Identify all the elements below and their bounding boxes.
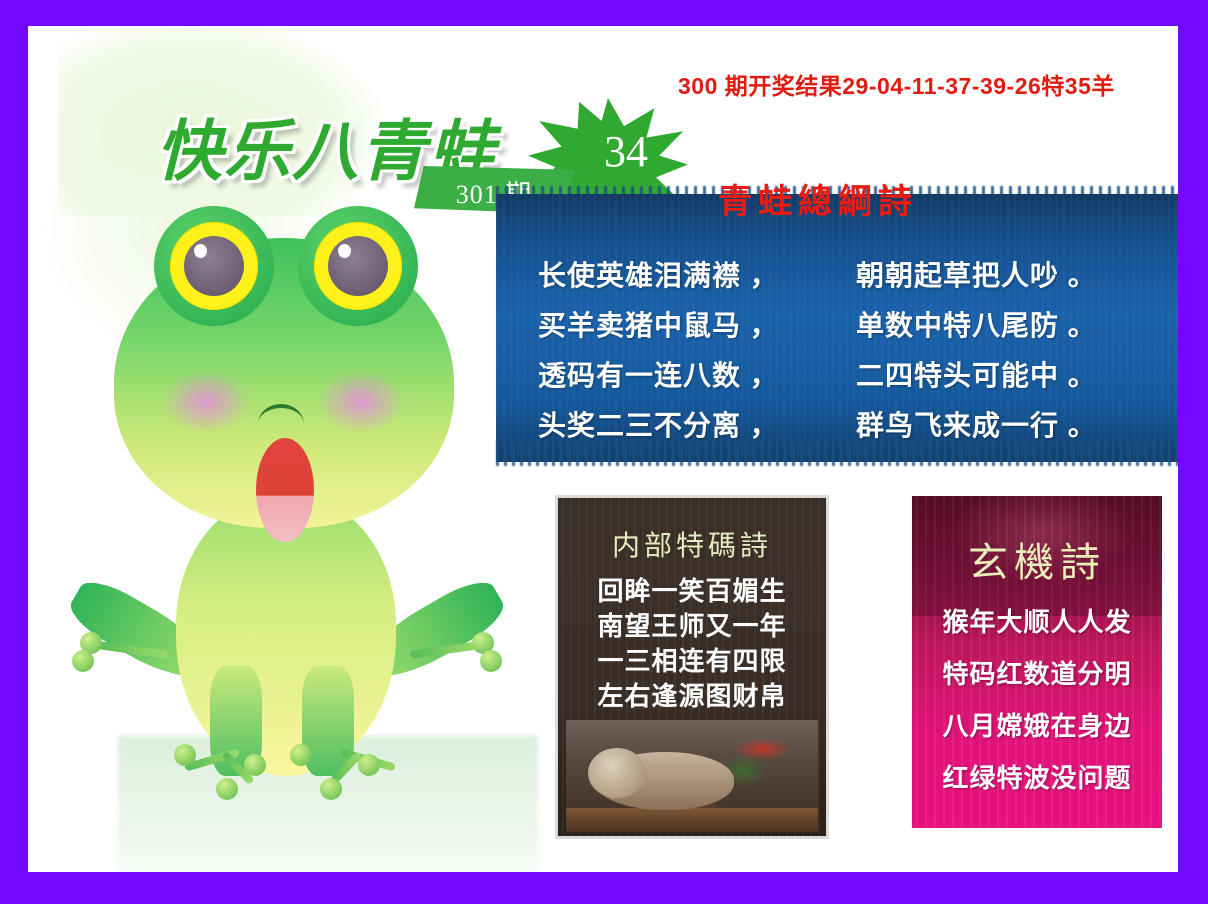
mystery-poem-line: 特码红数道分明: [912, 648, 1162, 700]
main-poem-heading: 青蛙總綱詩: [718, 174, 918, 223]
frog-eye-glint-right: [338, 244, 351, 258]
mystery-poem-line: 猴年大顺人人发: [912, 596, 1162, 648]
frog-eye-glint-left: [194, 244, 207, 258]
poem-row: 长使英雄泪满襟 ， 朝朝起草把人吵 。: [538, 254, 1178, 294]
poem-cell-left: 透码有一连八数 ，: [538, 354, 856, 394]
frog-toe-10: [320, 778, 342, 800]
poster-root: 300 期开奖结果29-04-11-37-39-26特35羊 34 快乐八青蛙 …: [0, 0, 1208, 904]
poem-cell-right: 朝朝起草把人吵 。: [856, 254, 1174, 294]
cat-photo-shelf: [566, 808, 818, 832]
inner-poem-heading: 内部特碼詩: [558, 524, 826, 564]
frog-toe-4: [480, 650, 502, 672]
frog-toe-7: [216, 778, 238, 800]
mystery-poem-heading: 玄機詩: [912, 530, 1162, 588]
frog-toe-8: [290, 744, 312, 766]
frog-mouth: [256, 438, 314, 542]
poem-cell-left: 买羊卖猪中鼠马 ，: [538, 304, 856, 344]
poem-row: 透码有一连八数 ， 二四特头可能中 。: [538, 354, 1178, 394]
inner-poem-lines: 回眸一笑百媚生 南望王师又一年 一三相连有四限 左右逢源图财帛: [558, 574, 826, 714]
cat-head: [588, 748, 646, 798]
poster-canvas: 300 期开奖结果29-04-11-37-39-26特35羊 34 快乐八青蛙 …: [28, 26, 1178, 872]
draw-result-line: 300 期开奖结果29-04-11-37-39-26特35羊: [678, 67, 1115, 101]
poem-cell-left: 长使英雄泪满襟 ，: [538, 254, 856, 294]
inner-poem-line: 左右逢源图财帛: [558, 679, 826, 714]
inner-poem-line: 一三相连有四限: [558, 644, 826, 679]
main-poem-grid: 长使英雄泪满襟 ， 朝朝起草把人吵 。 买羊卖猪中鼠马 ， 单数中特八尾防 。 …: [538, 254, 1178, 454]
frog-cheek-left: [163, 371, 249, 433]
frog-toe-9: [358, 754, 380, 776]
frog-pupil-right: [328, 236, 388, 296]
mystery-poem-line: 八月嫦娥在身边: [912, 700, 1162, 752]
poem-cell-right: 二四特头可能中 。: [856, 354, 1174, 394]
inner-poem-line: 南望王师又一年: [558, 609, 826, 644]
frog-toe-2: [72, 650, 94, 672]
frog-cheek-right: [318, 371, 404, 433]
frog-pupil-left: [184, 236, 244, 296]
poem-cell-left: 头奖二三不分离 ，: [538, 404, 856, 444]
frog-mascot: [58, 176, 518, 872]
poem-row: 头奖二三不分离 ， 群鸟飞来成一行 。: [538, 404, 1178, 444]
frog-toe-5: [174, 744, 196, 766]
poem-row: 买羊卖猪中鼠马 ， 单数中特八尾防 。: [538, 304, 1178, 344]
poem-cell-right: 群鸟飞来成一行 。: [856, 404, 1174, 444]
mystery-poem-lines: 猴年大顺人人发 特码红数道分明 八月嫦娥在身边 红绿特波没问题: [912, 596, 1162, 804]
frog-toe-6: [244, 754, 266, 776]
burst-number: 34: [586, 126, 666, 177]
poem-cell-right: 单数中特八尾防 。: [856, 304, 1174, 344]
mystery-poem-line: 红绿特波没问题: [912, 752, 1162, 804]
inner-poem-line: 回眸一笑百媚生: [558, 574, 826, 609]
